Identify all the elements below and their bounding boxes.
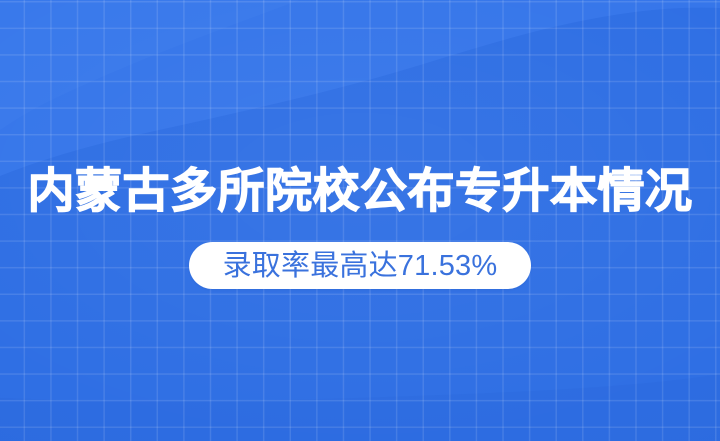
- subtitle-pill: 录取率最高达71.53%: [189, 242, 532, 289]
- subtitle-container: 录取率最高达71.53%: [0, 242, 720, 289]
- banner-headline: 内蒙古多所院校公布专升本情况: [0, 163, 720, 219]
- banner-content: 内蒙古多所院校公布专升本情况 录取率最高达71.53%: [0, 0, 720, 441]
- promo-banner: 内蒙古多所院校公布专升本情况 录取率最高达71.53%: [0, 0, 720, 441]
- subtitle-text: 录取率最高达71.53%: [223, 251, 498, 281]
